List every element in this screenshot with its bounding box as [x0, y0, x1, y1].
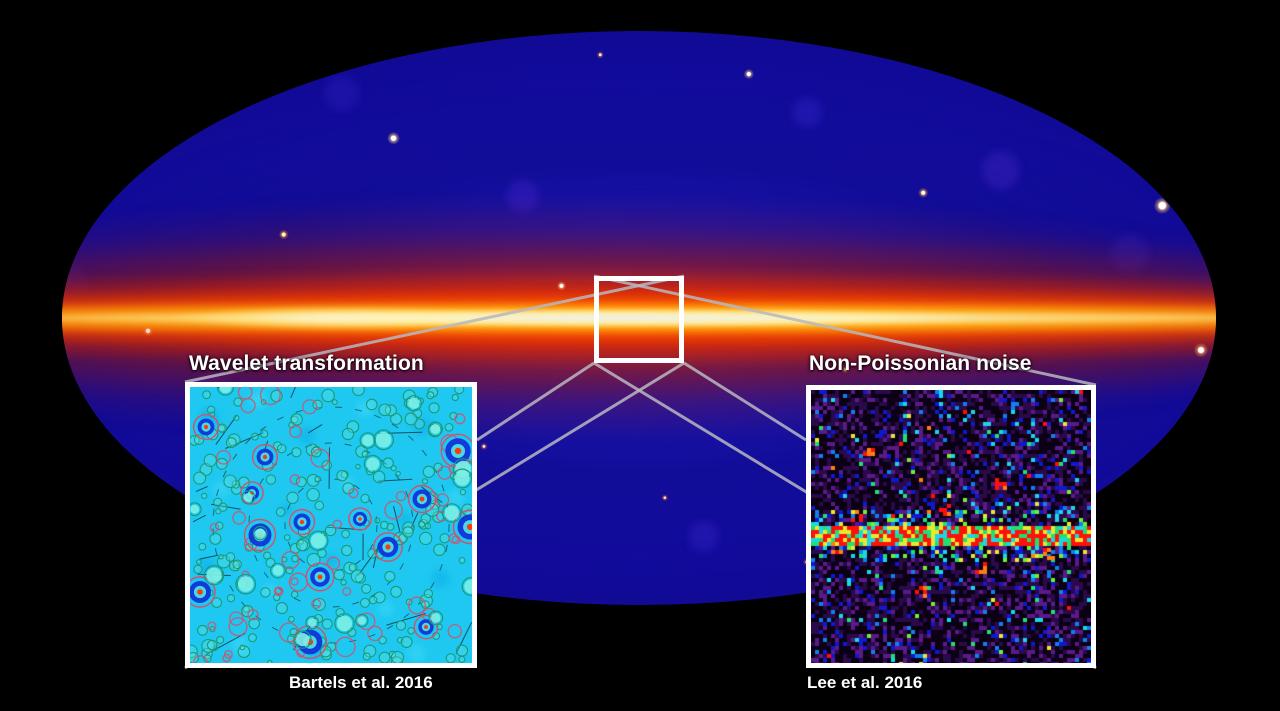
region-of-interest-box [594, 276, 684, 363]
non-poissonian-inset-caption: Lee et al. 2016 [807, 673, 922, 693]
non-poissonian-noise-title: Non-Poissonian noise [809, 352, 1032, 376]
non-poissonian-pixel-map [811, 390, 1091, 663]
wavelet-inset-caption: Bartels et al. 2016 [289, 673, 433, 693]
wavelet-transformation-title: Wavelet transformation [189, 352, 424, 376]
wavelet-source-markers [190, 387, 472, 663]
non-poissonian-noise-inset [806, 385, 1096, 668]
wavelet-transformation-inset [185, 382, 477, 668]
figure-canvas: Wavelet transformation Bartels et al. 20… [0, 0, 1280, 711]
